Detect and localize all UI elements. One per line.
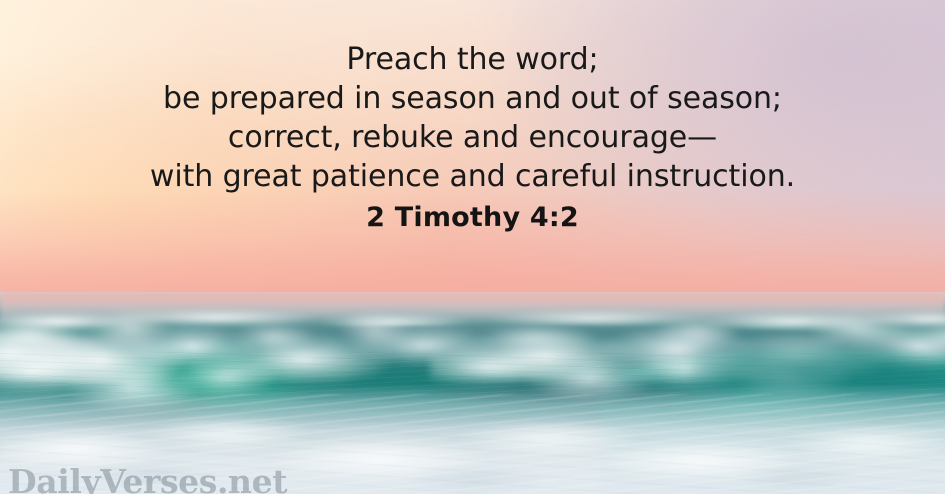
verse-text-block: Preach the word; be prepared in season a… <box>0 40 945 235</box>
verse-image-canvas: Preach the word; be prepared in season a… <box>0 0 945 494</box>
sea-spray-plumes <box>0 292 945 348</box>
watermark-dailyverses: DailyVerses.net <box>8 464 287 494</box>
verse-line-3: correct, rebuke and encourage— <box>0 118 945 157</box>
verse-line-1: Preach the word; <box>0 40 945 79</box>
verse-line-2: be prepared in season and out of season; <box>0 79 945 118</box>
verse-reference: 2 Timothy 4:2 <box>0 201 945 235</box>
verse-line-4: with great patience and careful instruct… <box>0 157 945 196</box>
